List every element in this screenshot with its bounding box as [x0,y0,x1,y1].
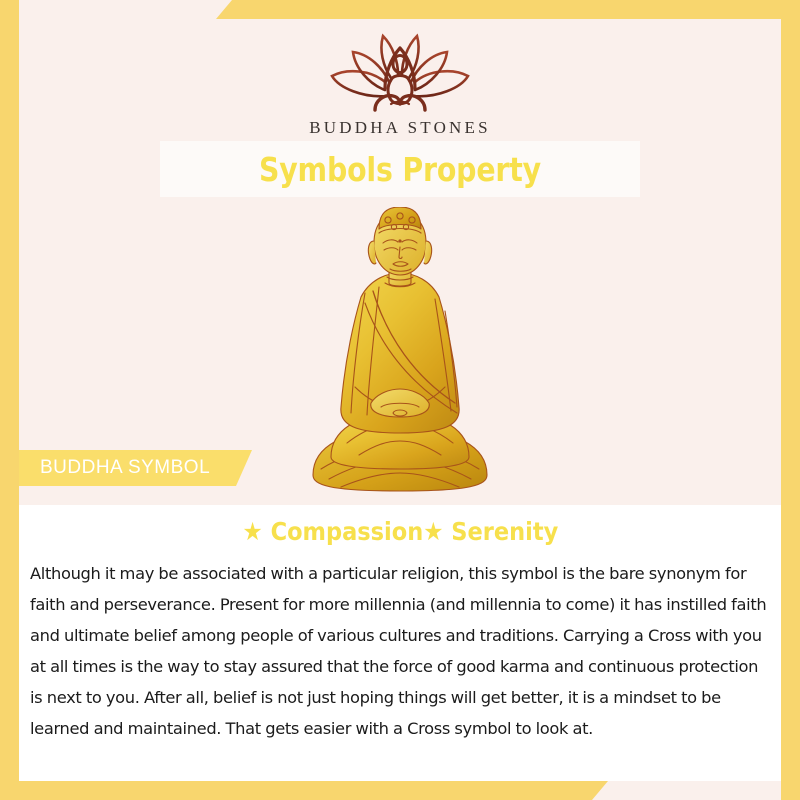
title-band: Symbols Property [160,141,640,197]
decorative-bottom-bar [0,781,608,800]
lotus-meditation-icon [325,24,475,114]
star-icon-1: ★ [242,517,262,546]
content-card: ★ Compassion★ Serenity Although it may b… [19,505,781,781]
section-ribbon-label: BUDDHA SYMBOL [19,457,210,479]
poster-root: BUDDHA STONES Symbols Property [0,0,800,800]
headline-keyword-serenity: Serenity [451,517,558,546]
brand-logo-block: BUDDHA STONES [0,24,800,138]
content-headline: ★ Compassion★ Serenity [19,505,781,546]
section-ribbon: BUDDHA SYMBOL [19,450,252,486]
golden-buddha-statue-illustration [295,207,505,497]
brand-name: BUDDHA STONES [0,118,800,138]
headline-keyword-compassion: Compassion [270,517,423,546]
decorative-top-bar [216,0,800,19]
content-paragraph: Although it may be associated with a par… [19,546,781,744]
star-icon-2: ★ [423,517,443,546]
page-title: Symbols Property [259,150,541,189]
